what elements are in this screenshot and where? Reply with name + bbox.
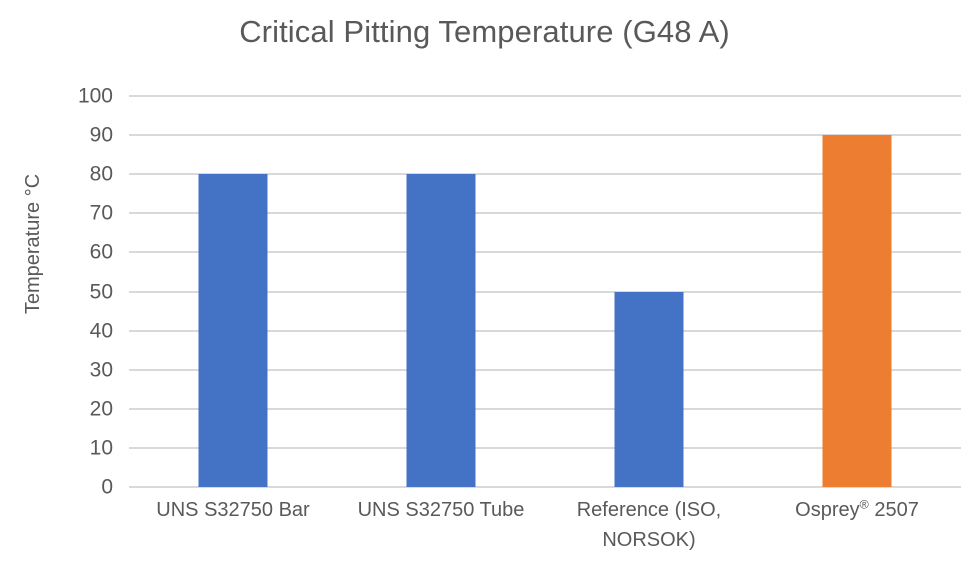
y-axis-tick-label: 0 <box>101 477 113 498</box>
y-axis-tick-label: 60 <box>90 242 113 263</box>
x-axis-tick-label-line: UNS S32750 Bar <box>129 495 337 525</box>
y-axis-tick-label: 30 <box>90 359 113 380</box>
bar[interactable] <box>823 135 892 487</box>
x-axis-tick-label: UNS S32750 Bar <box>129 495 337 525</box>
bar-slot <box>337 96 545 487</box>
bar[interactable] <box>615 292 684 488</box>
x-axis-tick-label-line: NORSOK) <box>545 525 753 555</box>
y-axis-tick-label: 80 <box>90 164 113 185</box>
x-axis-tick-label-line: Osprey® 2507 <box>753 495 961 525</box>
plot-area <box>129 96 961 487</box>
x-axis-tick-label: UNS S32750 Tube <box>337 495 545 525</box>
y-axis-tick-label: 70 <box>90 203 113 224</box>
bar[interactable] <box>199 174 268 487</box>
bar-chart: Critical Pitting Temperature (G48 A) Tem… <box>0 0 969 573</box>
y-axis-tick-label: 90 <box>90 125 113 146</box>
bar-slot <box>753 96 961 487</box>
x-axis-tick-label: Osprey® 2507 <box>753 495 961 525</box>
y-axis-tick-label: 100 <box>78 86 113 107</box>
bar-slot <box>545 96 753 487</box>
y-axis-tick-labels: 1009080706050403020100 <box>0 96 113 487</box>
x-axis-tick-label-line: UNS S32750 Tube <box>337 495 545 525</box>
bars-layer <box>129 96 961 487</box>
x-axis-tick-label: Reference (ISO,NORSOK) <box>545 495 753 555</box>
chart-title: Critical Pitting Temperature (G48 A) <box>0 14 969 50</box>
y-axis-tick-label: 50 <box>90 281 113 302</box>
x-axis-tick-label-line: Reference (ISO, <box>545 495 753 525</box>
bar[interactable] <box>407 174 476 487</box>
y-axis-tick-label: 10 <box>90 437 113 458</box>
x-axis-tick-labels: UNS S32750 BarUNS S32750 TubeReference (… <box>129 495 961 573</box>
y-axis-tick-label: 20 <box>90 398 113 419</box>
bar-slot <box>129 96 337 487</box>
registered-trademark-icon: ® <box>860 497 869 511</box>
y-axis-tick-label: 40 <box>90 320 113 341</box>
